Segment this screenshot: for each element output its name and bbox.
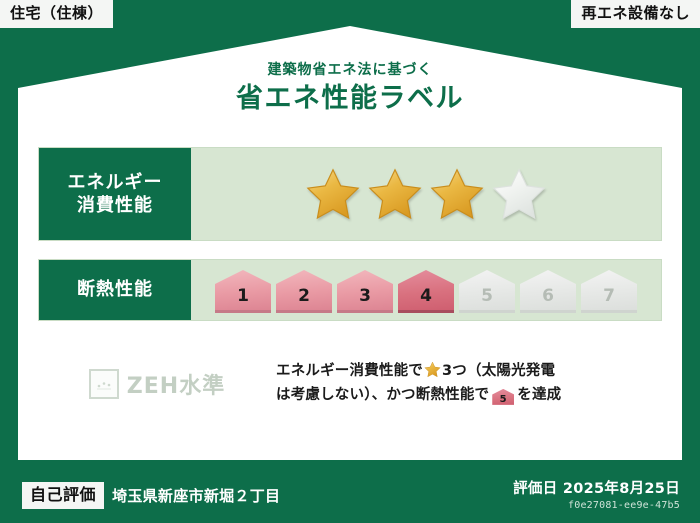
property-address: 埼玉県新座市新堀２丁目 [112,485,280,506]
label-footer: 自己評価 埼玉県新座市新堀２丁目 評価日 2025年8月25日 f0e27081… [0,460,700,523]
star-rating [304,166,548,222]
note-level-chip-value: 5 [492,389,514,410]
evaluation-date-label: 評価日 [513,481,557,497]
house-chip-base [398,310,454,313]
house-chip-base [215,310,271,313]
note-part-1: エネルギー消費性能で [276,363,423,379]
house-chip-base [337,310,393,313]
insulation-chip-6-value: 6 [542,288,554,310]
house-chip-base [581,310,637,313]
insulation-chip-1-value: 1 [237,288,249,310]
self-assessment-badge: 自己評価 [22,482,104,509]
energy-performance-label: 住宅（住棟） 再エネ設備なし 建築物省エネ法に基づく 省エネ性能ラベル エネルギ… [0,0,700,523]
insulation-performance-row: 断熱性能 1 2 3 [38,259,662,321]
zeh-note-area: ZEH水準 エネルギー消費性能で3つ（太陽光発電 は考慮しない）、かつ断熱性能で… [38,360,662,408]
note-part-4: を達成 [517,387,561,403]
heading-subtitle: 建築物省エネ法に基づく [0,62,700,79]
zeh-standard-label: ZEH水準 [127,368,225,400]
note-level-chip: 5 [492,389,514,405]
energy-consumption-row: エネルギー 消費性能 [38,147,662,241]
energy-consumption-label: エネルギー 消費性能 [39,148,191,240]
star-filled-3 [428,166,486,222]
note-part-3: は考慮しない）、かつ断熱性能で [276,387,489,403]
star-empty-4 [490,166,548,222]
insulation-level-chips: 1 2 3 4 [215,270,637,310]
insulation-chip-7-value: 7 [603,288,615,310]
note-part-2: 3つ（太陽光発電 [442,363,555,379]
zeh-standard-block: ZEH水準 [38,368,276,400]
evaluation-id: f0e27081-ee9e-47b5 [513,500,680,511]
house-chip-base [276,310,332,313]
house-chip-base [520,310,576,313]
insulation-performance-label: 断熱性能 [39,260,191,320]
achievement-note: エネルギー消費性能で3つ（太陽光発電 は考慮しない）、かつ断熱性能で5を達成 [276,360,662,408]
zeh-house-icon [89,369,119,399]
energy-rating-body [191,148,661,240]
insulation-chip-5-value: 5 [481,288,493,310]
house-chip-base [459,310,515,313]
insulation-chip-2: 2 [276,270,332,310]
insulation-chip-3: 3 [337,270,393,310]
renewable-energy-tag: 再エネ設備なし [571,0,700,28]
star-filled-2 [366,166,424,222]
star-icon [424,361,441,378]
insulation-chip-4-value: 4 [420,288,432,310]
footer-left-group: 自己評価 埼玉県新座市新堀２丁目 [22,482,280,509]
label-heading: 建築物省エネ法に基づく 省エネ性能ラベル [0,62,700,116]
insulation-chip-4-current: 4 [398,270,454,310]
building-type-tag: 住宅（住棟） [0,0,113,28]
footer-right-group: 評価日 2025年8月25日 f0e27081-ee9e-47b5 [513,477,680,511]
insulation-chip-3-value: 3 [359,288,371,310]
energy-label-line2: 消費性能 [77,194,153,217]
zeh-icon-glyph [91,371,117,397]
insulation-rating-body: 1 2 3 4 [191,260,661,320]
insulation-chip-6: 6 [520,270,576,310]
energy-label-line1: エネルギー [68,171,163,194]
insulation-chip-2-value: 2 [298,288,310,310]
evaluation-date-value: 2025年8月25日 [563,481,680,497]
insulation-chip-7: 7 [581,270,637,310]
star-filled-1 [304,166,362,222]
insulation-chip-1: 1 [215,270,271,310]
insulation-chip-5: 5 [459,270,515,310]
evaluation-date: 評価日 2025年8月25日 [513,477,680,498]
heading-title: 省エネ性能ラベル [0,82,700,116]
